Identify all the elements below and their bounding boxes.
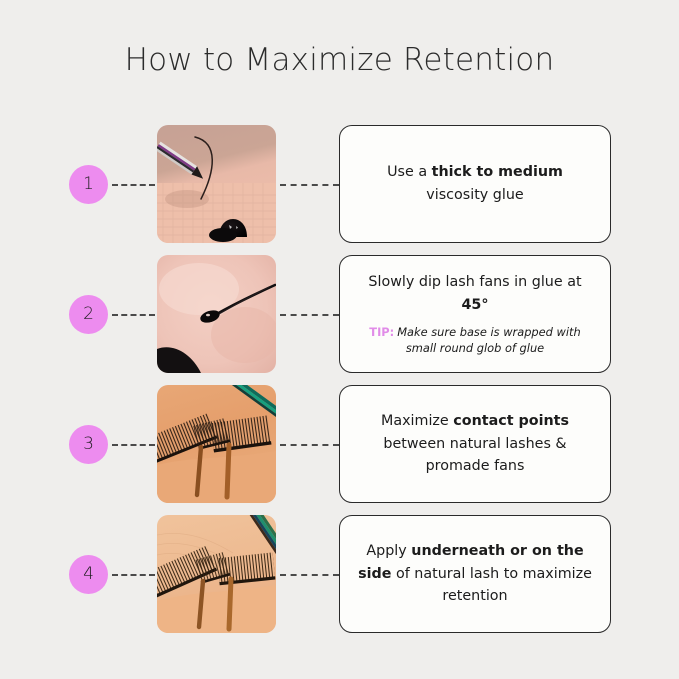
connector-dashed-right-3 [280, 444, 339, 446]
connector-dashed-right-4 [280, 574, 339, 576]
step-number-badge-4: 4 [69, 555, 108, 594]
connector-dashed-right-1 [280, 184, 339, 186]
tip-label: TIP: [369, 325, 394, 339]
step-text-3: Maximize contact points between natural … [356, 410, 594, 478]
step-photo-4 [157, 515, 276, 633]
step-text-1: Use a thick to medium viscosity glue [356, 161, 594, 206]
step-number-label-3: 3 [83, 436, 94, 453]
step-photo-1 [157, 125, 276, 243]
step-card-1: Use a thick to medium viscosity glue [339, 125, 611, 243]
step-text-2: Slowly dip lash fans in glue at 45° [356, 271, 594, 316]
step-card-2: Slowly dip lash fans in glue at 45° TIP:… [339, 255, 611, 373]
step-text-4: Apply underneath or on the side of natur… [356, 540, 594, 608]
step-number-badge-2: 2 [69, 295, 108, 334]
connector-dashed-left-1 [112, 184, 155, 186]
connector-dashed-left-2 [112, 314, 155, 316]
step-number-badge-1: 1 [69, 165, 108, 204]
page-title: How to Maximize Retention [0, 42, 679, 78]
step-row-4: 4 [0, 515, 679, 633]
step-tip-2: TIP:Make sure base is wrapped with small… [356, 324, 594, 357]
step-row-2: 2 [0, 255, 679, 373]
connector-dashed-left-3 [112, 444, 155, 446]
step-row-3: 3 [0, 385, 679, 503]
step-number-label-4: 4 [83, 566, 94, 583]
step-number-label-1: 1 [83, 176, 94, 193]
connector-dashed-right-2 [280, 314, 339, 316]
step-number-badge-3: 3 [69, 425, 108, 464]
connector-dashed-left-4 [112, 574, 155, 576]
step-card-3: Maximize contact points between natural … [339, 385, 611, 503]
infographic-root: How to Maximize Retention 1 [0, 0, 679, 679]
step-photo-2 [157, 255, 276, 373]
step-number-label-2: 2 [83, 306, 94, 323]
step-card-4: Apply underneath or on the side of natur… [339, 515, 611, 633]
step-row-1: 1 [0, 125, 679, 243]
step-photo-3 [157, 385, 276, 503]
tip-text: Make sure base is wrapped with small rou… [397, 325, 580, 356]
